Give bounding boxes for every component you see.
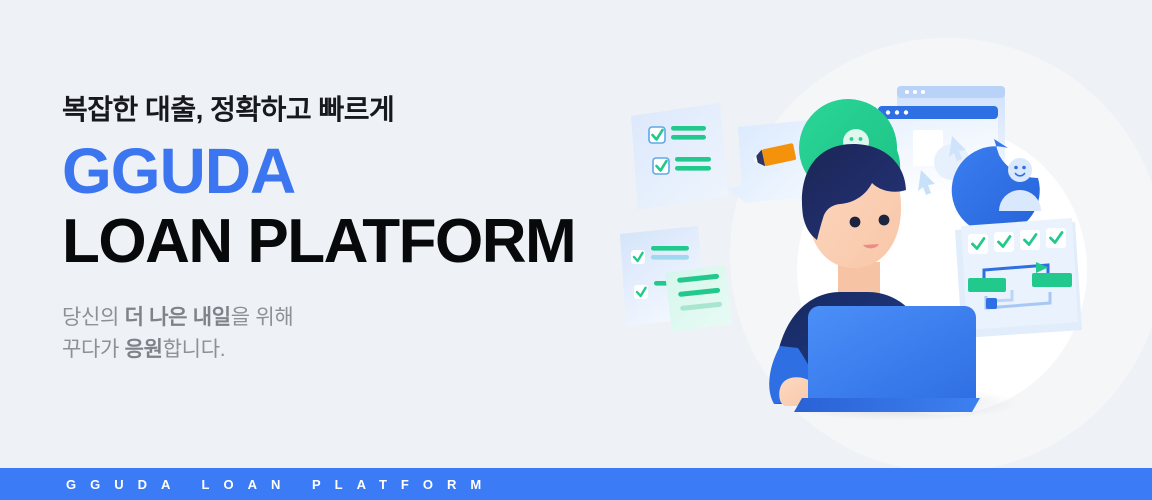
flow-block-right	[1032, 273, 1072, 287]
headline-kicker: 복잡한 대출, 정확하고 빠르게	[62, 92, 622, 127]
laptop	[794, 306, 980, 412]
flow-block-left	[968, 278, 1006, 292]
bottom-ticker-bar: GGUDA LOAN PLATFORM	[0, 468, 1152, 500]
tagline-2-pre: 꾸다가	[62, 338, 125, 361]
tagline-1-pre: 당신의	[62, 306, 125, 329]
flow-node	[986, 298, 997, 309]
tagline-2-strong: 응원	[125, 338, 163, 361]
brand-title: GGUDA	[62, 139, 622, 204]
tagline-1-strong: 더 나은 내일	[125, 306, 231, 329]
promo-banner: 복잡한 대출, 정확하고 빠르게 GGUDA LOAN PLATFORM 당신의…	[0, 0, 1152, 500]
memo-card-green	[665, 265, 732, 332]
tagline-line-1: 당신의 더 나은 내일을 위해	[62, 302, 622, 335]
eye-right	[879, 215, 890, 226]
product-title: LOAN PLATFORM	[62, 210, 622, 273]
hero-illustration	[620, 0, 1152, 468]
tagline: 당신의 더 나은 내일을 위해 꾸다가 응원합니다.	[62, 302, 622, 367]
tagline-1-post: 을 위해	[231, 306, 294, 329]
eye-left	[850, 217, 861, 228]
tagline-line-2: 꾸다가 응원합니다.	[62, 334, 622, 367]
banner-copy: 복잡한 대출, 정확하고 빠르게 GGUDA LOAN PLATFORM 당신의…	[62, 92, 622, 367]
ticker-text: GGUDA LOAN PLATFORM	[66, 477, 495, 492]
tagline-2-post: 합니다.	[163, 338, 226, 361]
checklist-card-top-left	[631, 103, 728, 210]
